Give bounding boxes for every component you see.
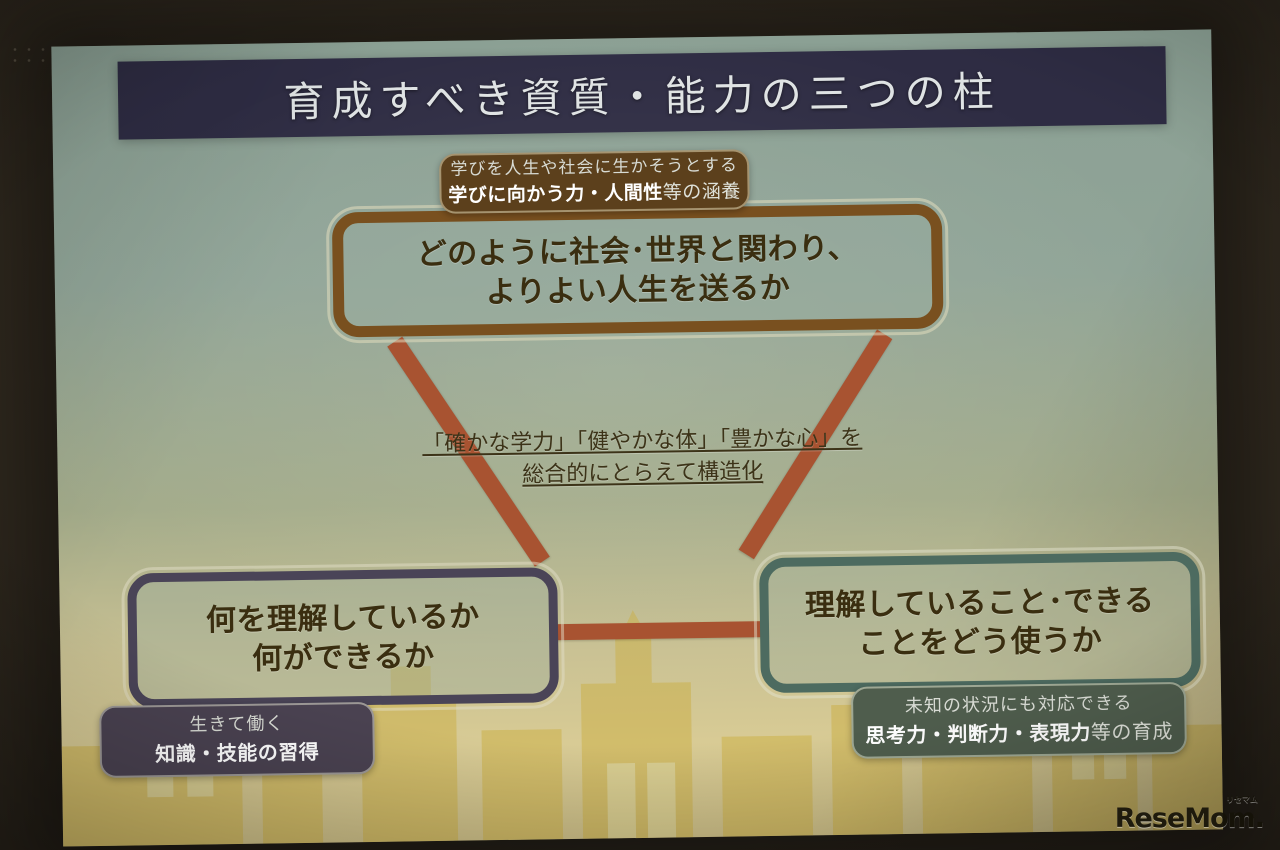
pillar-right-tag-line2: 思考力・判断力・表現力等の育成 xyxy=(865,717,1173,751)
slide-title-bar: 育成すべき資質・能力の三つの柱 xyxy=(118,46,1167,140)
pillar-top-line2: よりよい人生を送るか xyxy=(486,270,791,310)
pillar-left-line2: 何ができるか xyxy=(252,639,435,677)
pillar-right-line2: ことをどう使うか xyxy=(858,623,1102,662)
pillar-left-text: 何を理解しているか 何ができるか xyxy=(206,597,481,679)
pillar-top-text: どのように社会･世界と関わり、 よりよい人生を送るか xyxy=(416,228,858,313)
pillar-right-text: 理解していること･できる ことをどう使うか xyxy=(805,581,1156,664)
resemom-watermark: リセマム ReseMom. xyxy=(1115,803,1266,834)
slide-canvas: 育成すべき資質・能力の三つの柱 学びを人生や社会に生かそうとする 学びに向かう力… xyxy=(51,29,1223,846)
watermark-kana: リセマム xyxy=(1226,794,1258,805)
pillar-left-tag: 生きて働く 知識・技能の習得 xyxy=(99,702,375,778)
pillar-top-tag-line2: 学びに向かう力・人間性等の涵養 xyxy=(448,178,741,210)
watermark-text: ReseMom. xyxy=(1115,803,1264,834)
pillar-left-tag-line2: 知識・技能の習得 xyxy=(155,737,319,768)
pillar-left-line1: 何を理解しているか xyxy=(206,599,480,638)
pillar-right-tag-line1: 未知の状況にも対応できる xyxy=(905,691,1133,720)
projection-screen: 育成すべき資質・能力の三つの柱 学びを人生や社会に生かそうとする 学びに向かう力… xyxy=(51,29,1223,846)
pillar-top-tag-line2-thin: 等の涵養 xyxy=(663,180,741,203)
pillar-right-line1: 理解していること･できる xyxy=(805,583,1155,623)
centre-annotation: 「確かな学力」「健やかな体」「豊かな心」を 総合的にとらえて構造化 xyxy=(357,422,928,494)
pillar-left-tag-line2-bold: 知識・技能の習得 xyxy=(155,739,319,765)
pillar-box-right: 理解していること･できる ことをどう使うか xyxy=(759,552,1201,694)
pillar-top-line1: どのように社会･世界と関わり、 xyxy=(417,230,859,272)
pillar-top-tag-line2-bold: 学びに向かう力・人間性 xyxy=(448,181,663,206)
pillar-box-top: どのように社会･世界と関わり、 よりよい人生を送るか xyxy=(332,203,944,337)
pillar-top-tag: 学びを人生や社会に生かそうとする 学びに向かう力・人間性等の涵養 xyxy=(439,149,750,214)
pillar-left-tag-line1: 生きて働く xyxy=(189,712,284,740)
pillar-right-tag: 未知の状況にも対応できる 思考力・判断力・表現力等の育成 xyxy=(851,682,1187,759)
slide-title: 育成すべき資質・能力の三つの柱 xyxy=(283,58,1001,129)
pillar-right-tag-line2-bold: 思考力・判断力・表現力 xyxy=(865,720,1091,747)
connector-left-to-right xyxy=(552,621,768,640)
pillar-right-tag-line2-thin: 等の育成 xyxy=(1091,719,1173,744)
pillar-box-left: 何を理解しているか 何ができるか xyxy=(127,567,559,708)
